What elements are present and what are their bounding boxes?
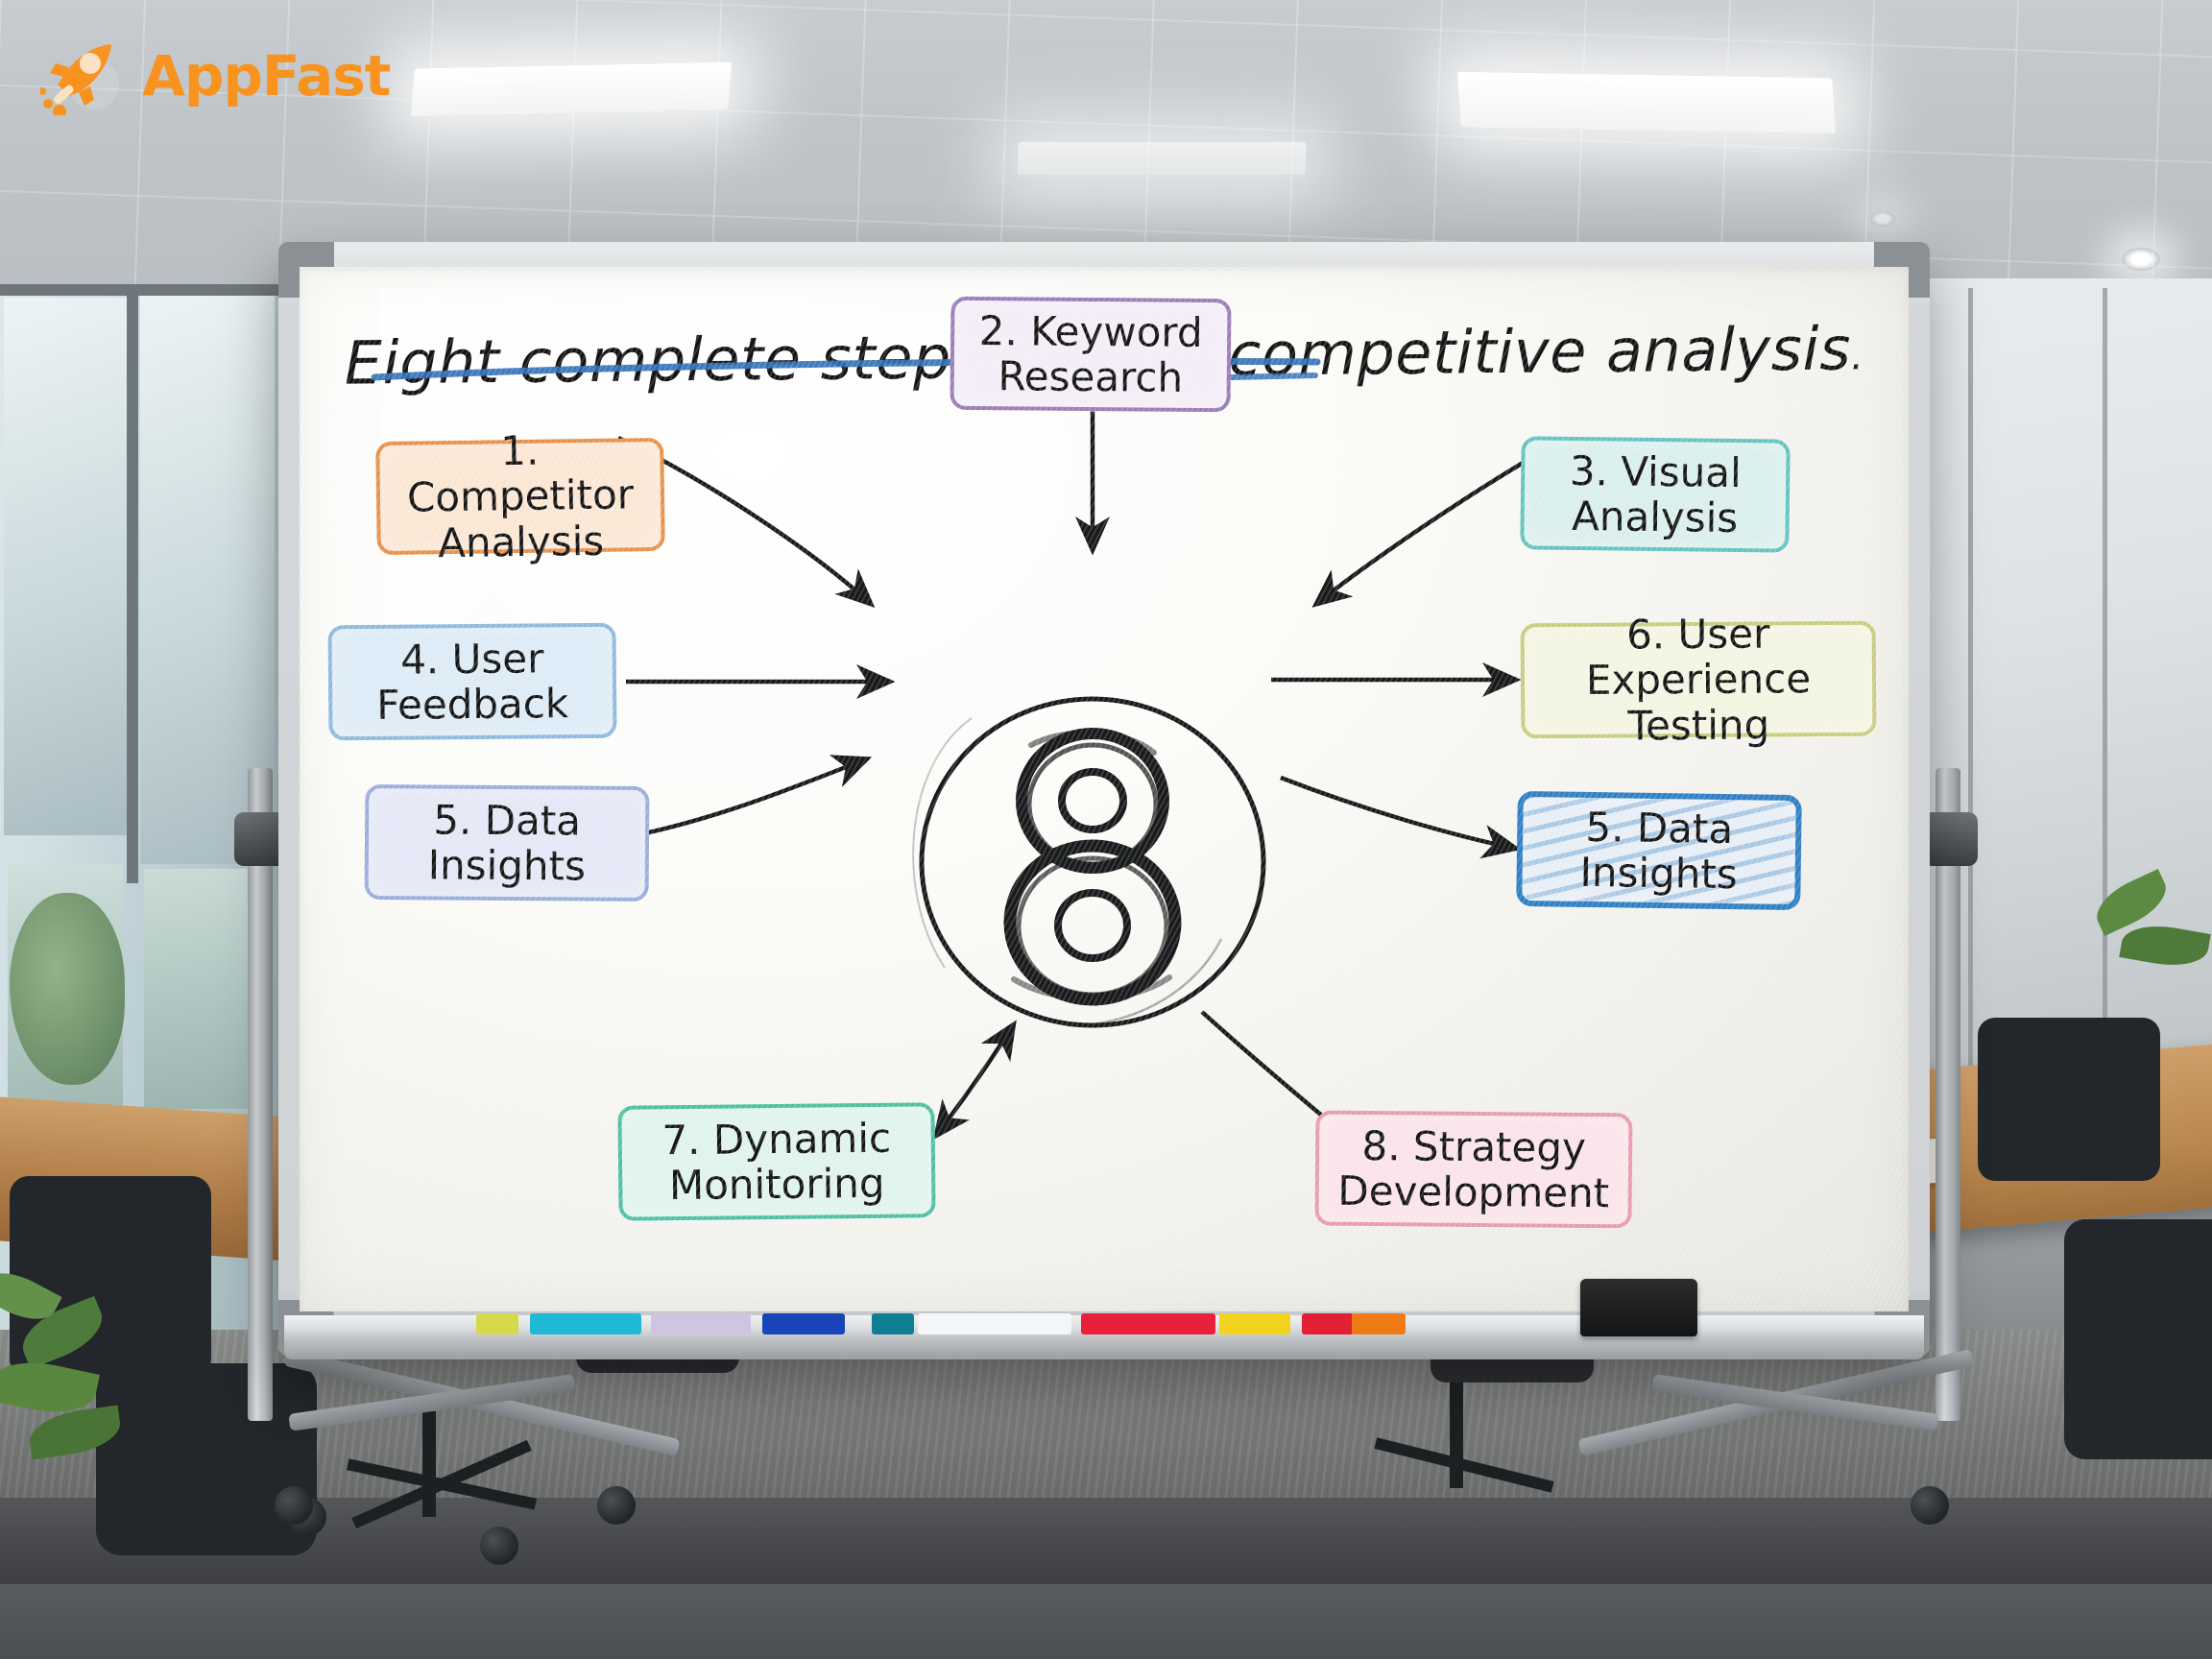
whiteboard-wheel-icon <box>1911 1486 1949 1525</box>
screenshot-root: Eight complete steps to ASO competitive … <box>0 0 2212 1659</box>
node-line-2: Feedback <box>376 681 568 728</box>
marker[interactable] <box>1302 1313 1354 1334</box>
node-strategy-development[interactable]: 8. Strategy Development <box>1314 1111 1632 1229</box>
ceiling-downlight-icon <box>2122 248 2160 271</box>
marker[interactable] <box>651 1313 751 1334</box>
node-line-1: 4. User <box>376 636 568 683</box>
node-visual-analysis[interactable]: 3. Visual Analysis <box>1520 436 1790 552</box>
chair-post <box>1450 1382 1463 1488</box>
appfast-logo-text: AppFast <box>142 43 391 108</box>
marker[interactable] <box>1219 1313 1290 1334</box>
whiteboard-height-knob[interactable] <box>1922 812 1978 866</box>
whiteboard-wheel-icon <box>275 1486 313 1525</box>
glass-mullion <box>2103 288 2107 1133</box>
marker[interactable] <box>872 1313 914 1334</box>
node-data-insights[interactable]: 5. Data Insights <box>365 784 650 902</box>
window-mullion <box>127 288 138 883</box>
node-user-feedback[interactable]: 4. User Feedback <box>327 623 616 741</box>
marker[interactable] <box>476 1313 518 1334</box>
whiteboard-marker-tray <box>284 1315 1924 1359</box>
node-line-1: 3. Visual <box>1570 448 1742 495</box>
marker[interactable] <box>762 1313 845 1334</box>
glass-partition-right <box>1882 278 2212 1142</box>
node-line-1: 8. Strategy <box>1338 1123 1610 1170</box>
whiteboard-eraser[interactable] <box>1580 1279 1697 1336</box>
node-line-2: Analysis <box>1569 493 1741 541</box>
node-line-2: Insights <box>428 842 587 888</box>
office-chair <box>1978 1018 2160 1181</box>
whiteboard-stand-leg <box>248 768 273 1421</box>
appfast-logo[interactable]: AppFast <box>40 36 391 115</box>
floor-shadow <box>0 1498 2212 1584</box>
glass-mullion <box>1968 288 1973 1133</box>
ceiling-downlight-icon <box>1870 211 1895 227</box>
node-competitor-analysis[interactable]: 1. Competitor Analysis <box>375 438 665 555</box>
node-line-1: 7. Dynamic <box>661 1116 891 1164</box>
node-line-1: 1. Competitor <box>395 427 645 521</box>
marker[interactable] <box>530 1313 641 1334</box>
chair-wheel-icon <box>480 1527 518 1565</box>
office-chair <box>2064 1219 2212 1459</box>
office-chair <box>96 1363 317 1555</box>
ceiling-light-panel <box>1017 142 1306 175</box>
marker[interactable] <box>918 1313 1071 1334</box>
ceiling-light-panel <box>1457 72 1837 134</box>
node-line-2: Monitoring <box>662 1161 892 1209</box>
marker[interactable] <box>1081 1313 1215 1334</box>
node-line-2: Insights <box>1579 850 1738 897</box>
node-user-experience-testing[interactable]: 6. User Experience Testing <box>1521 621 1877 739</box>
node-line-1: 2. Keyword <box>979 308 1203 355</box>
node-line-2: Development <box>1337 1168 1609 1215</box>
diagram-title-period: . <box>1851 334 1864 378</box>
window-pane <box>4 298 127 835</box>
whiteboard: Eight complete steps to ASO competitive … <box>278 242 1930 1356</box>
whiteboard-stand-leg <box>1935 768 1960 1421</box>
node-line-1: 6. User Experience <box>1540 611 1858 703</box>
node-line-1: 5. Data <box>1580 805 1739 852</box>
outdoor-foliage <box>10 893 125 1085</box>
node-dynamic-monitoring[interactable]: 7. Dynamic Monitoring <box>617 1102 935 1220</box>
node-line-2: Analysis <box>396 517 646 566</box>
node-line-1: 5. Data <box>428 797 587 843</box>
rocket-icon <box>40 36 129 115</box>
node-keyword-research[interactable]: 2. Keyword Research <box>950 297 1231 413</box>
chair-post <box>422 1411 436 1517</box>
window-mullion <box>0 284 288 296</box>
whiteboard-wheel-icon <box>597 1486 636 1525</box>
ceiling-light-panel <box>411 62 733 117</box>
marker[interactable] <box>1352 1313 1406 1334</box>
node-line-2: Research <box>978 353 1202 400</box>
node-line-2: Testing <box>1540 701 1857 748</box>
whiteboard-surface[interactable]: Eight complete steps to ASO competitive … <box>300 267 1909 1311</box>
node-data-insights-duplicate[interactable]: 5. Data Insights <box>1516 791 1802 910</box>
aso-steps-diagram: Eight complete steps to ASO competitive … <box>300 267 1909 1311</box>
